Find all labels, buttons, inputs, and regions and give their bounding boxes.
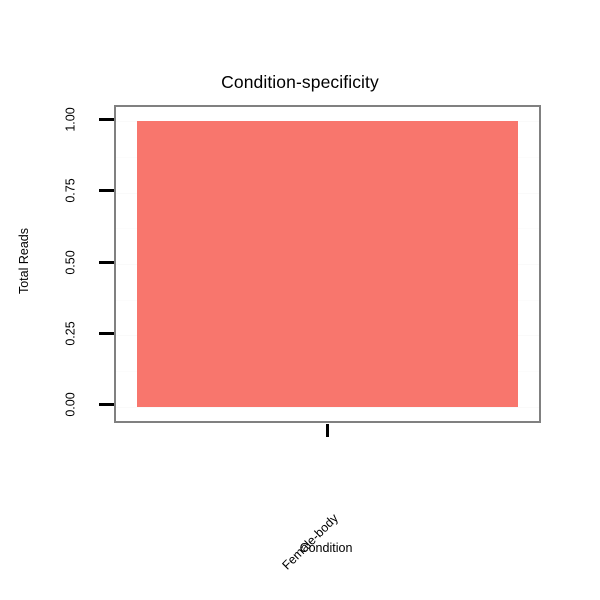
y-tick-label-4: 1.00 <box>65 102 78 136</box>
y-tick-label-2: 0.50 <box>65 245 78 279</box>
y-tick-label-0: 0.00 <box>65 388 78 422</box>
bar-female-body[interactable] <box>137 121 518 407</box>
chart-title: Condition-specificity <box>0 72 600 92</box>
x-axis-title: Condition <box>26 541 600 556</box>
y-tick-mark-4 <box>99 118 114 121</box>
plot-panel <box>114 105 541 423</box>
plot-panel-inner <box>116 107 539 421</box>
y-tick-label-3: 0.75 <box>65 174 78 208</box>
x-tick-mark-0 <box>326 424 329 437</box>
y-tick-mark-3 <box>99 189 114 192</box>
y-axis-title: Total Reads <box>17 191 31 331</box>
y-tick-mark-2 <box>99 261 114 264</box>
gridline-y-0.00 <box>116 407 539 408</box>
chart-canvas: Condition-specificity Total Reads 0.00 0… <box>0 0 600 600</box>
y-tick-label-1: 0.25 <box>65 316 78 350</box>
y-tick-mark-0 <box>99 403 114 406</box>
y-tick-mark-1 <box>99 332 114 335</box>
